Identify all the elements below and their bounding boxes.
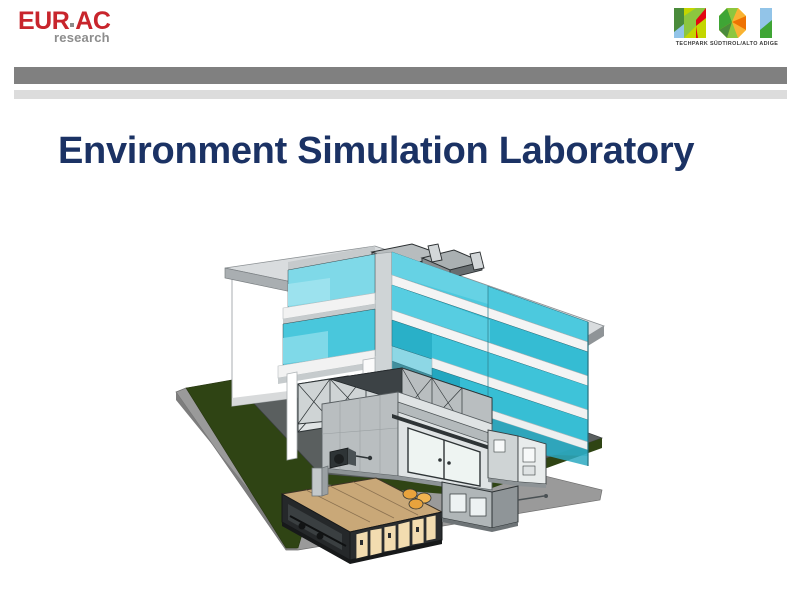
noi-subtitle: TECHPARK SÜDTIROL/ALTO ADIGE [666, 41, 788, 47]
eurac-research-logo: EURAC research [18, 8, 178, 56]
noi-letter-marks [672, 6, 782, 40]
noi-letter-o-icon [719, 8, 746, 38]
page-title: Environment Simulation Laboratory [58, 128, 758, 174]
header-divider-thick [14, 67, 787, 84]
header-divider-thin [14, 90, 787, 99]
eurac-separator-dot [70, 23, 74, 27]
building-rendering-figure [170, 238, 618, 568]
eurac-subtitle: research [54, 30, 178, 45]
noi-letter-n-icon [674, 8, 706, 38]
building-3d-illustration [170, 238, 618, 568]
noi-letter-i-icon [760, 8, 772, 38]
noi-techpark-logo: TECHPARK SÜDTIROL/ALTO ADIGE [666, 6, 788, 56]
presentation-slide: EURAC research [0, 0, 800, 593]
vertical-service-duct [312, 466, 328, 496]
